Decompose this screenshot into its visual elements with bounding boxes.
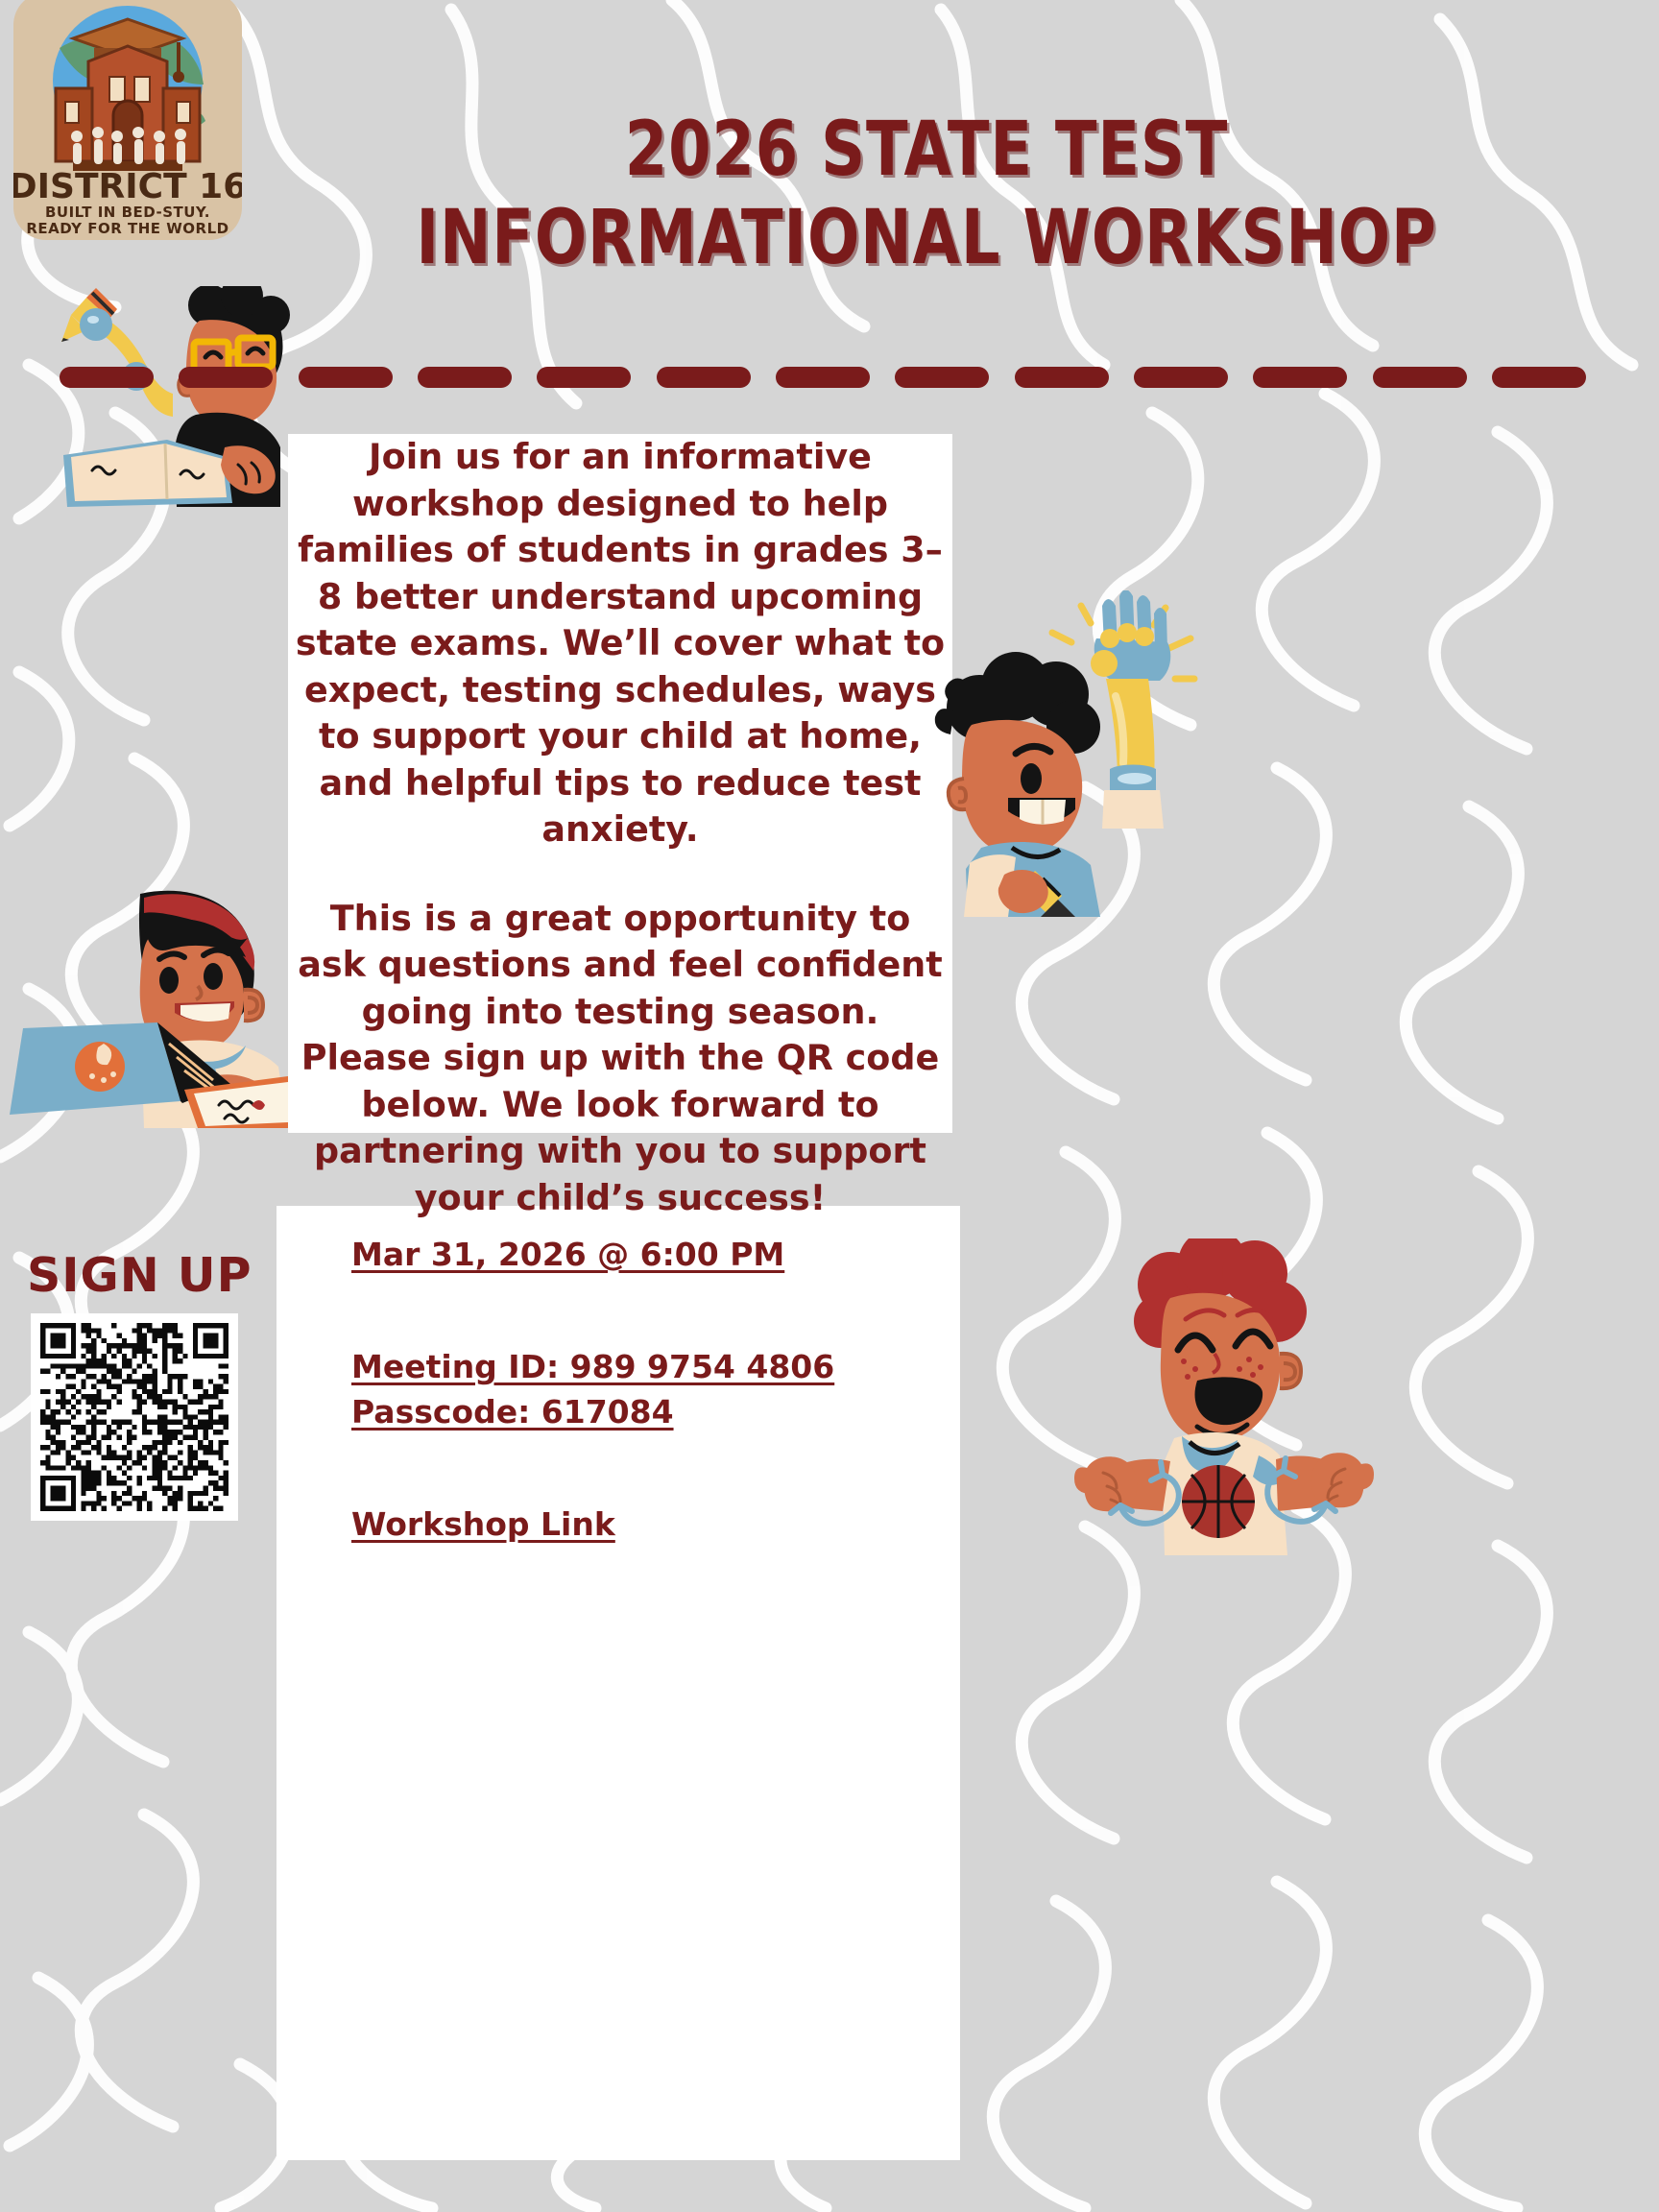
qr-code-canvas[interactable] (40, 1323, 228, 1511)
body-text: Join us for an informative workshop desi… (288, 434, 952, 1222)
flyer-poster: DISTRICT 16 BUILT IN BED-STUY. READY FOR… (0, 0, 1659, 2212)
workshop-link[interactable]: Workshop Link (351, 1503, 960, 1548)
qr-code[interactable] (31, 1313, 238, 1521)
student-raising-hand-illustration (912, 590, 1200, 917)
student-reading-illustration (54, 286, 313, 507)
body-paragraph-1: Join us for an informative workshop desi… (294, 434, 947, 854)
student-with-laptop-illustration (0, 888, 288, 1128)
details-text: Mar 31, 2026 @ 6:00 PM Meeting ID: 989 9… (276, 1206, 960, 2160)
meeting-passcode[interactable]: Passcode: 617084 (351, 1390, 960, 1435)
thumbs-up-hand-left (1074, 1456, 1137, 1511)
district-logo: DISTRICT 16 BUILT IN BED-STUY. READY FOR… (13, 0, 242, 240)
meeting-id[interactable]: Meeting ID: 989 9754 4806 (351, 1345, 960, 1390)
page-title: 2026 STATE TEST INFORMATIONAL WORKSHOP (240, 106, 1613, 282)
raised-hand-icon (1091, 590, 1170, 681)
dashed-divider (60, 365, 1586, 390)
thumbs-up-hand-right (1311, 1453, 1374, 1507)
logo-tagline-line2: READY FOR THE WORLD (26, 220, 228, 237)
title-line-1: 2026 STATE TEST (364, 106, 1490, 194)
student-cheering-illustration (1070, 1238, 1378, 1555)
body-paragraph-2: This is a great opportunity to ask quest… (294, 896, 947, 1222)
title-line-2: INFORMATIONAL WORKSHOP (364, 194, 1490, 282)
event-datetime: Mar 31, 2026 @ 6:00 PM (351, 1233, 960, 1278)
logo-tagline-line1: BUILT IN BED-STUY. (45, 204, 210, 221)
signup-label: SIGN UP (27, 1248, 252, 1303)
logo-district-name: DISTRICT 16 (13, 167, 242, 206)
